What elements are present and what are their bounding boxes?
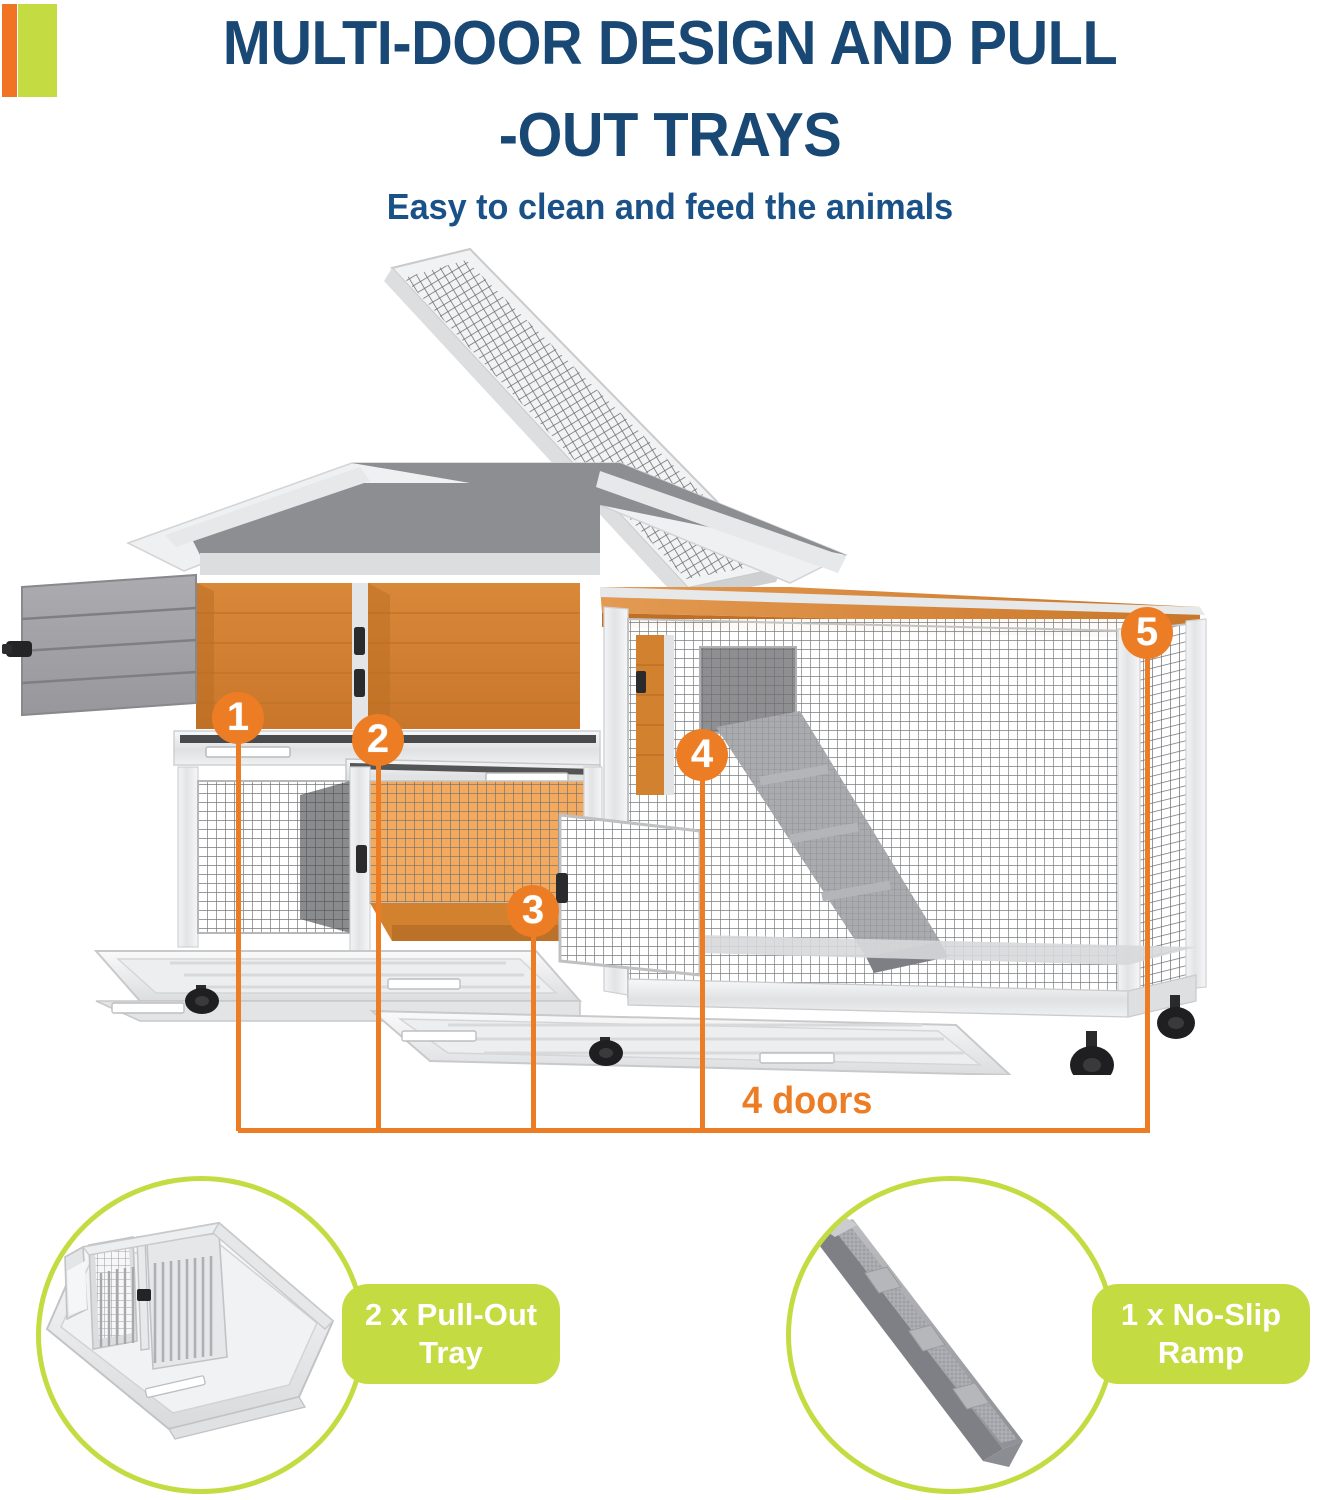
inset-circle-tray <box>36 1176 366 1494</box>
inset-no-slip-ramp: 1 x No-Slip Ramp <box>786 1176 1326 1494</box>
leader-line-2 <box>376 757 381 1131</box>
callout-badge-1[interactable]: 1 <box>212 692 264 744</box>
callout-badge-4[interactable]: 4 <box>676 729 728 781</box>
inset-label-tray-line1: 2 x Pull-Out <box>365 1296 537 1334</box>
callout-badge-3-label: 3 <box>522 884 544 936</box>
leader-line-1 <box>236 735 241 1131</box>
hutch-door-left-open <box>2 575 196 715</box>
inset-label-tray: 2 x Pull-Out Tray <box>342 1284 560 1384</box>
infographic-root: MULTI-DOOR DESIGN AND PULL -OUT TRAYS Ea… <box>0 0 1340 1500</box>
callout-badge-2-label: 2 <box>367 713 389 765</box>
tray-product <box>47 1223 333 1439</box>
inset-pull-out-tray: 2 x Pull-Out Tray <box>36 1176 656 1494</box>
hutch-door-4-open <box>556 815 700 975</box>
callout-badge-4-label: 4 <box>691 728 713 780</box>
callout-badge-5-label: 5 <box>1136 606 1158 658</box>
leader-line-4 <box>700 772 705 1131</box>
callout-badge-1-label: 1 <box>227 691 249 743</box>
callout-badge-3[interactable]: 3 <box>507 885 559 937</box>
doors-count-label: 4 doors <box>742 1078 970 1124</box>
inset-label-ramp: 1 x No-Slip Ramp <box>1092 1284 1310 1384</box>
inset-label-tray-line2: Tray <box>365 1334 537 1372</box>
ramp-product <box>813 1217 1023 1467</box>
inset-label-ramp-line1: 1 x No-Slip <box>1121 1296 1281 1334</box>
leader-line-5 <box>1145 650 1150 1131</box>
page-title-line2: -OUT TRAYS <box>47 98 1293 174</box>
hutch-lower-left-run <box>178 767 370 951</box>
callout-badge-5[interactable]: 5 <box>1121 607 1173 659</box>
inset-circle-ramp <box>786 1176 1116 1494</box>
accent-bar-orange <box>2 4 17 97</box>
page-title-line1: MULTI-DOOR DESIGN AND PULL <box>47 6 1293 82</box>
inset-label-ramp-line2: Ramp <box>1121 1334 1281 1372</box>
callout-bracket <box>238 1128 1150 1133</box>
leader-line-3 <box>531 928 536 1131</box>
callout-badge-2[interactable]: 2 <box>352 714 404 766</box>
page-subtitle: Easy to clean and feed the animals <box>34 185 1307 229</box>
